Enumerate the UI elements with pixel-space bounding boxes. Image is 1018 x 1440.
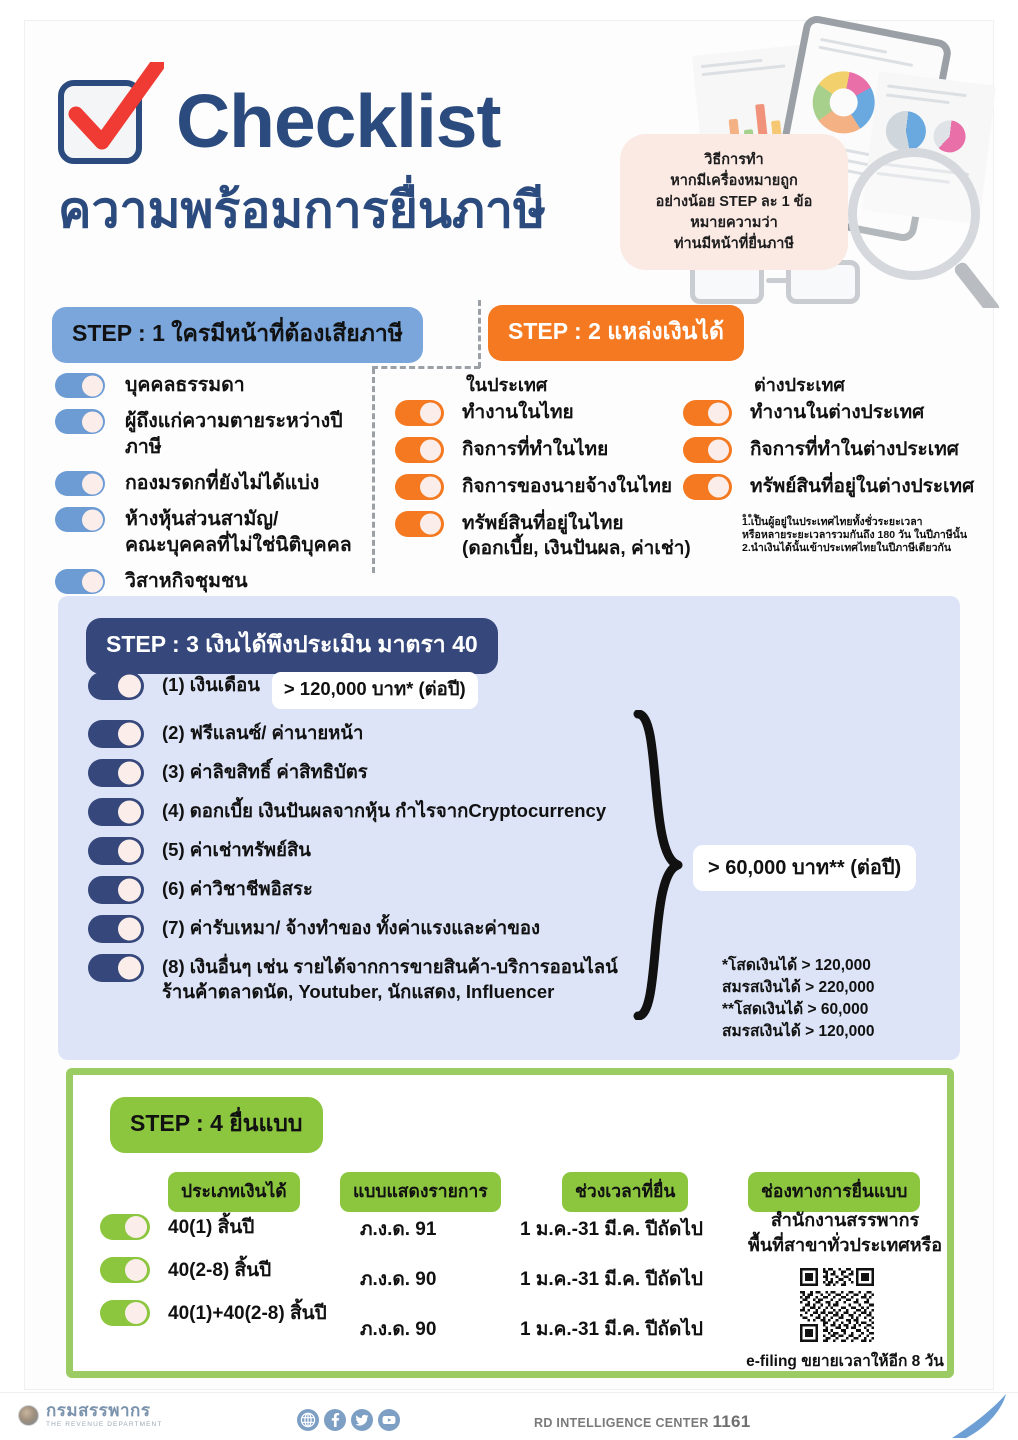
step4-channel-text: สำนักงานสรรพากร พื้นที่สาขาทั่วประเทศหรื…: [740, 1208, 950, 1258]
page-title-th: ความพร้อมการยื่นภาษี: [58, 180, 546, 240]
list-item-label: (5) ค่าเช่าทรัพย์สิน: [162, 837, 311, 862]
step4-form-list: ภ.ง.ด. 91 ภ.ง.ด. 90 ภ.ง.ด. 90: [360, 1214, 520, 1364]
column-header-channel: ช่องทางการยื่นแบบ: [748, 1172, 920, 1212]
amount-chip-item1: > 120,000 บาท* (ต่อปี): [272, 672, 478, 709]
step3-header-pill: STEP : 3 เงินได้พึงประเมิน มาตรา 40: [86, 618, 498, 674]
list-item[interactable]: (8) เงินอื่นๆ เช่น รายได้จากการขายสินค้า…: [88, 954, 648, 1004]
list-item[interactable]: (7) ค่ารับเหมา/ จ้างทำของ ทั้งค่าแรงและค…: [88, 915, 648, 943]
toggle-switch-icon[interactable]: [55, 373, 105, 398]
toggle-switch-icon[interactable]: [88, 672, 144, 700]
revenue-department-logo: กรมสรรพากร THE REVENUE DEPARTMENT: [18, 1402, 162, 1428]
list-item[interactable]: กิจการของนายจ้างในไทย: [395, 474, 695, 500]
step2-foreign-header: ต่างประเทศ: [754, 370, 845, 399]
swoosh-decoration-icon: [950, 1394, 1010, 1440]
list-item-label: (6) ค่าวิชาชีพอิสระ: [162, 876, 313, 901]
list-item[interactable]: (6) ค่าวิชาชีพอิสระ: [88, 876, 648, 904]
toggle-switch-icon[interactable]: [683, 400, 732, 426]
column-header-form: แบบแสดงรายการ: [340, 1172, 501, 1212]
list-item-label: กิจการที่ทำในต่างประเทศ: [750, 437, 959, 462]
toggle-switch-icon[interactable]: [683, 437, 732, 463]
check-mark-icon: [68, 62, 164, 162]
curly-brace-icon: [632, 710, 688, 1020]
step1-checklist: บุคคลธรรมดา ผู้ถึงแก่ความตายระหว่างปีภาษ…: [55, 372, 375, 604]
page-title-en: Checklist: [176, 82, 500, 160]
list-item-label: กิจการของนายจ้างในไทย: [462, 474, 672, 499]
step3-checklist: (1) เงินเดือน > 120,000 บาท* (ต่อปี) (2)…: [88, 672, 648, 1015]
step2-footnote: 1.เป็นผู้อยู่ในประเทศไทยทั้งชั่วระยะเวลา…: [742, 516, 982, 555]
toggle-switch-icon[interactable]: [88, 915, 144, 943]
toggle-switch-icon[interactable]: [88, 837, 144, 865]
magnifier-handle-icon: [952, 260, 1001, 308]
list-item-label: (8) เงินอื่นๆ เช่น รายได้จากการขายสินค้า…: [162, 954, 618, 1004]
type-label: 40(1)+40(2-8) สิ้นปี: [168, 1298, 327, 1328]
toggle-switch-icon[interactable]: [100, 1257, 150, 1283]
facebook-icon[interactable]: [324, 1409, 346, 1431]
qr-code-icon[interactable]: [800, 1268, 874, 1342]
list-item-label: (1) เงินเดือน: [162, 672, 260, 697]
list-item-label: ทำงานในไทย: [462, 400, 574, 425]
toggle-switch-icon[interactable]: [55, 409, 105, 434]
toggle-switch-icon[interactable]: [55, 471, 105, 496]
toggle-switch-icon[interactable]: [55, 507, 105, 532]
step4-period-list: 1 ม.ค.-31 มี.ค. ปีถัดไป 1 ม.ค.-31 มี.ค. …: [520, 1214, 750, 1364]
list-item[interactable]: (5) ค่าเช่าทรัพย์สิน: [88, 837, 648, 865]
social-links: [297, 1409, 400, 1431]
period-label: 1 ม.ค.-31 มี.ค. ปีถัดไป: [520, 1264, 750, 1294]
toggle-switch-icon[interactable]: [100, 1300, 150, 1326]
type-label: 40(1) สิ้นปี: [168, 1212, 254, 1242]
list-item-label: ผู้ถึงแก่ความตายระหว่างปีภาษี: [125, 408, 375, 460]
list-item-label: (7) ค่ารับเหมา/ จ้างทำของ ทั้งค่าแรงและค…: [162, 915, 540, 940]
toggle-switch-icon[interactable]: [88, 720, 144, 748]
list-item[interactable]: กิจการที่ทำในต่างประเทศ: [683, 437, 983, 463]
globe-icon[interactable]: [297, 1409, 319, 1431]
list-item[interactable]: (3) ค่าลิขสิทธิ์ ค่าสิทธิบัตร: [88, 759, 648, 787]
column-header-type: ประเภทเงินได้: [168, 1172, 300, 1212]
type-label: 40(2-8) สิ้นปี: [168, 1255, 271, 1285]
toggle-switch-icon[interactable]: [100, 1214, 150, 1240]
list-item-label: ห้างหุ้นส่วนสามัญ/ คณะบุคคลที่ไม่ใช่นิติ…: [125, 506, 352, 558]
list-item-label: (4) ดอกเบี้ย เงินปันผลจากหุ้น กำไรจากCry…: [162, 798, 606, 823]
list-item-label: ทรัพย์สินที่อยู่ในต่างประเทศ: [750, 474, 974, 499]
form-label: ภ.ง.ด. 91: [360, 1214, 520, 1244]
infographic-page: Checklist ความพร้อมการยื่นภาษี วิธีการทำ…: [0, 0, 1018, 1440]
list-item[interactable]: กองมรดกที่ยังไม่ได้แบ่ง: [55, 470, 375, 496]
rd-intelligence-center: RD INTELLIGENCE CENTER 1161: [534, 1412, 751, 1432]
toggle-switch-icon[interactable]: [88, 759, 144, 787]
list-item-label: บุคคลธรรมดา: [125, 372, 245, 398]
toggle-switch-icon[interactable]: [395, 437, 444, 463]
list-item[interactable]: ทรัพย์สินที่อยู่ในไทย (ดอกเบี้ย, เงินปัน…: [395, 511, 695, 561]
form-label: ภ.ง.ด. 90: [360, 1314, 520, 1344]
list-item[interactable]: ทรัพย์สินที่อยู่ในต่างประเทศ: [683, 474, 983, 500]
toggle-switch-icon[interactable]: [683, 474, 732, 500]
step1-header-pill: STEP : 1 ใครมีหน้าที่ต้องเสียภาษี: [52, 307, 423, 363]
toggle-switch-icon[interactable]: [395, 474, 444, 500]
form-label: ภ.ง.ด. 90: [360, 1264, 520, 1294]
list-item[interactable]: กิจการที่ทำในไทย: [395, 437, 695, 463]
list-item-label: กิจการที่ทำในไทย: [462, 437, 608, 462]
period-label: 1 ม.ค.-31 มี.ค. ปีถัดไป: [520, 1314, 750, 1344]
list-item[interactable]: ทำงานในไทย: [395, 400, 695, 426]
list-item-label: ทำงานในต่างประเทศ: [750, 400, 924, 425]
amount-chip-items2to8: > 60,000 บาท** (ต่อปี): [693, 845, 916, 891]
step2-domestic-checklist: ทำงานในไทย กิจการที่ทำในไทย กิจการของนาย…: [395, 400, 695, 572]
logo-label-en: THE REVENUE DEPARTMENT: [46, 1421, 162, 1428]
twitter-icon[interactable]: [351, 1409, 373, 1431]
divider-dashed-horizontal: [372, 366, 480, 369]
method-callout: วิธีการทำ หากมีเครื่องหมายถูก อย่างน้อย …: [620, 134, 848, 270]
method-callout-text: วิธีการทำ หากมีเครื่องหมายถูก อย่างน้อย …: [656, 150, 813, 255]
step2-domestic-header: ในประเทศ: [466, 370, 547, 399]
list-item-label: กองมรดกที่ยังไม่ได้แบ่ง: [125, 470, 319, 496]
list-item[interactable]: ผู้ถึงแก่ความตายระหว่างปีภาษี: [55, 408, 375, 460]
list-item[interactable]: (1) เงินเดือน > 120,000 บาท* (ต่อปี): [88, 672, 648, 709]
toggle-switch-icon[interactable]: [88, 876, 144, 904]
toggle-switch-icon[interactable]: [395, 400, 444, 426]
youtube-icon[interactable]: [378, 1409, 400, 1431]
list-item-label: (3) ค่าลิขสิทธิ์ ค่าสิทธิบัตร: [162, 759, 368, 784]
step3-notes: *โสดเงินได้ > 120,000 สมรสเงินได้ > 220,…: [722, 955, 972, 1043]
step2-foreign-checklist: ทำงานในต่างประเทศ กิจการที่ทำในต่างประเท…: [683, 400, 983, 511]
list-item-label: ทรัพย์สินที่อยู่ในไทย (ดอกเบี้ย, เงินปัน…: [462, 511, 691, 561]
toggle-switch-icon[interactable]: [88, 798, 144, 826]
efiling-note: e-filing ขยายเวลาให้อีก 8 วัน: [700, 1348, 990, 1373]
list-item[interactable]: ห้างหุ้นส่วนสามัญ/ คณะบุคคลที่ไม่ใช่นิติ…: [55, 506, 375, 558]
list-item[interactable]: (2) ฟรีแลนซ์/ ค่านายหน้า: [88, 720, 648, 748]
divider-dashed-vertical: [372, 368, 375, 573]
step4-header-pill: STEP : 4 ยื่นแบบ: [110, 1097, 323, 1153]
rd-center-number: 1161: [712, 1412, 750, 1431]
list-item-label: วิสาหกิจชุมชน: [125, 568, 248, 594]
list-item[interactable]: ทำงานในต่างประเทศ: [683, 400, 983, 426]
list-item-label: (2) ฟรีแลนซ์/ ค่านายหน้า: [162, 720, 363, 745]
step2-header-pill: STEP : 2 แหล่งเงินได้: [488, 305, 744, 361]
rd-center-label: RD INTELLIGENCE CENTER: [534, 1416, 709, 1430]
column-header-period: ช่วงเวลาที่ยื่น: [562, 1172, 688, 1212]
toggle-switch-icon[interactable]: [55, 569, 105, 594]
period-label: 1 ม.ค.-31 มี.ค. ปีถัดไป: [520, 1214, 750, 1244]
divider-dashed-right: [478, 300, 481, 368]
toggle-switch-icon[interactable]: [88, 954, 144, 982]
list-item[interactable]: (4) ดอกเบี้ย เงินปันผลจากหุ้น กำไรจากCry…: [88, 798, 648, 826]
list-item[interactable]: วิสาหกิจชุมชน: [55, 568, 375, 594]
logo-label-th: กรมสรรพากร: [46, 1402, 162, 1419]
list-item[interactable]: บุคคลธรรมดา: [55, 372, 375, 398]
toggle-switch-icon[interactable]: [395, 511, 444, 537]
garuda-seal-icon: [18, 1405, 39, 1426]
